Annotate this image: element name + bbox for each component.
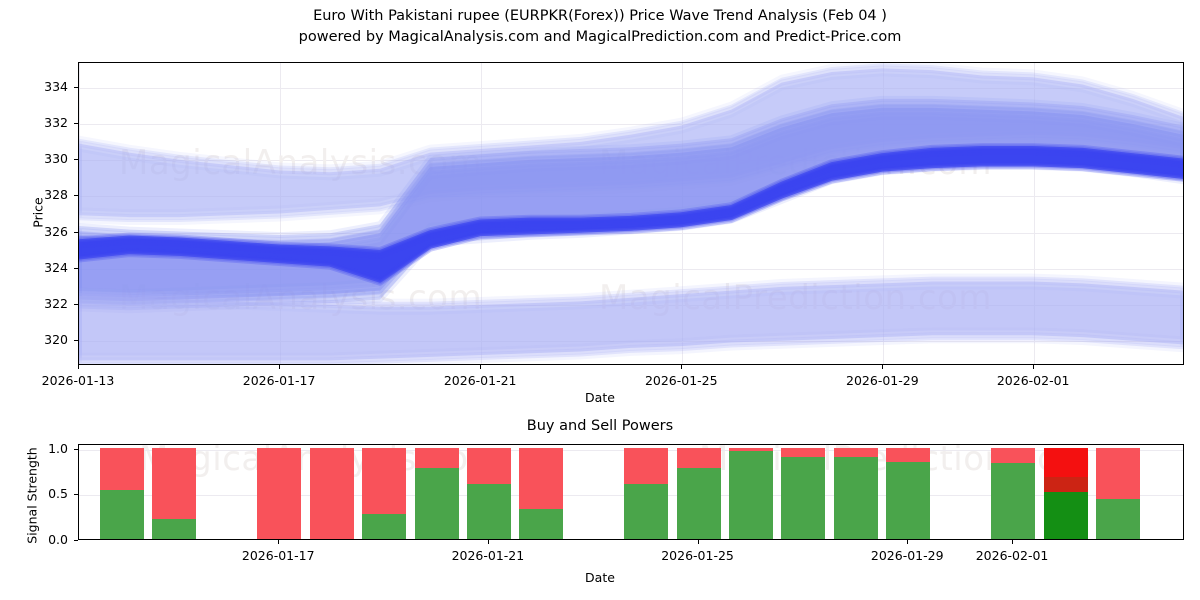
title-line-1: Euro With Pakistani rupee (EURPKR(Forex)… — [0, 6, 1200, 27]
power-bar[interactable] — [415, 444, 459, 539]
sell-power-segment — [100, 448, 144, 490]
sell-power-segment — [1096, 448, 1140, 499]
power-bar[interactable] — [362, 444, 406, 539]
sell-power-segment — [257, 448, 301, 539]
buy-power-segment — [415, 468, 459, 539]
price-x-tickmark — [1033, 365, 1034, 369]
buy-sell-powers-plot: MagicalAnalysis.comMagicalPrediction.com — [78, 444, 1184, 540]
buy-power-segment — [1096, 499, 1140, 539]
price-x-tickmark — [681, 365, 682, 369]
price-x-tick-label: 2026-01-29 — [830, 373, 934, 388]
price-y-tick-label: 322 — [18, 296, 68, 311]
powers-x-tickmark — [488, 540, 489, 544]
price-x-tick-label: 2026-01-13 — [26, 373, 130, 388]
sell-power-segment — [834, 448, 878, 457]
powers-x-tick-label: 2026-01-21 — [436, 548, 540, 563]
buy-power-segment — [152, 519, 196, 539]
buy-power-segment — [1044, 492, 1088, 540]
power-bar[interactable] — [624, 444, 668, 539]
chart-page: Euro With Pakistani rupee (EURPKR(Forex)… — [0, 0, 1200, 600]
buy-power-segment — [781, 457, 825, 539]
price-y-tick-label: 332 — [18, 115, 68, 130]
sell-power-segment — [362, 448, 406, 515]
price-x-axis-label: Date — [0, 390, 1200, 405]
buy-power-segment — [886, 462, 930, 539]
buy-power-segment — [834, 457, 878, 539]
power-bar[interactable] — [152, 444, 196, 539]
price-y-tickmark — [74, 87, 78, 88]
power-bar[interactable] — [100, 444, 144, 539]
price-y-tickmark — [74, 232, 78, 233]
power-bar[interactable] — [677, 444, 721, 539]
price-x-tick-label: 2026-01-25 — [629, 373, 733, 388]
price-x-tickmark — [279, 365, 280, 369]
power-bar[interactable] — [1096, 444, 1140, 539]
price-y-tick-label: 324 — [18, 260, 68, 275]
powers-x-tickmark — [278, 540, 279, 544]
powers-x-tick-label: 2026-01-17 — [226, 548, 330, 563]
price-y-axis-label: Price — [31, 173, 46, 253]
price-x-tick-label: 2026-01-17 — [227, 373, 331, 388]
buy-power-segment — [624, 484, 668, 539]
sell-power-segment — [886, 448, 930, 463]
power-bar[interactable] — [886, 444, 930, 539]
powers-x-tickmark — [698, 540, 699, 544]
price-y-tickmark — [74, 159, 78, 160]
price-y-tick-label: 320 — [18, 332, 68, 347]
buy-power-segment — [729, 451, 773, 539]
powers-x-tick-label: 2026-01-29 — [855, 548, 959, 563]
sell-power-segment — [152, 448, 196, 519]
powers-y-axis-label: Signal Strength — [25, 436, 40, 556]
buy-power-segment — [100, 490, 144, 539]
powers-y-tickmark — [74, 449, 78, 450]
page-title: Euro With Pakistani rupee (EURPKR(Forex)… — [0, 6, 1200, 48]
sell-power-segment — [677, 448, 721, 468]
buy-power-segment — [519, 509, 563, 539]
power-bar[interactable] — [781, 444, 825, 539]
power-bar[interactable] — [991, 444, 1035, 539]
power-bar[interactable] — [834, 444, 878, 539]
price-y-tickmark — [74, 268, 78, 269]
sell-power-segment — [310, 448, 354, 539]
sell-power-segment — [624, 448, 668, 485]
price-x-tickmark — [480, 365, 481, 369]
powers-x-tickmark — [1012, 540, 1013, 544]
price-wave-plot: MagicalAnalysis.comMagicalPrediction.com… — [78, 62, 1184, 365]
sell-power-segment — [991, 448, 1035, 464]
buy-power-segment — [991, 463, 1035, 539]
price-band-layer — [79, 63, 1183, 364]
title-line-2: powered by MagicalAnalysis.com and Magic… — [0, 27, 1200, 48]
price-y-tickmark — [74, 304, 78, 305]
power-bar[interactable] — [467, 444, 511, 539]
powers-y-tickmark — [74, 494, 78, 495]
price-x-tick-label: 2026-01-21 — [428, 373, 532, 388]
powers-x-tick-label: 2026-01-25 — [646, 548, 750, 563]
sell-power-segment — [415, 448, 459, 468]
sell-power-segment — [519, 448, 563, 509]
price-x-tickmark — [78, 365, 79, 369]
buy-power-segment — [467, 484, 511, 539]
power-bar[interactable] — [519, 444, 563, 539]
power-bar[interactable] — [1044, 444, 1088, 539]
power-bar[interactable] — [310, 444, 354, 539]
buy-power-segment — [362, 514, 406, 539]
price-y-tick-label: 334 — [18, 79, 68, 94]
price-y-tick-label: 330 — [18, 151, 68, 166]
powers-x-tick-label: 2026-02-01 — [960, 548, 1064, 563]
powers-title: Buy and Sell Powers — [0, 418, 1200, 434]
price-x-tick-label: 2026-02-01 — [981, 373, 1085, 388]
price-y-tickmark — [74, 195, 78, 196]
power-bar[interactable] — [729, 444, 773, 539]
sell-power-segment — [781, 448, 825, 457]
powers-x-axis-label: Date — [0, 570, 1200, 585]
price-x-tickmark — [882, 365, 883, 369]
price-y-tickmark — [74, 123, 78, 124]
price-y-tickmark — [74, 340, 78, 341]
sell-power-segment — [729, 448, 773, 452]
sell-power-segment — [467, 448, 511, 485]
powers-y-tickmark — [74, 540, 78, 541]
buy-power-segment — [677, 468, 721, 539]
powers-x-tickmark — [907, 540, 908, 544]
power-bar[interactable] — [257, 444, 301, 539]
sell-power-segment — [1044, 448, 1088, 492]
